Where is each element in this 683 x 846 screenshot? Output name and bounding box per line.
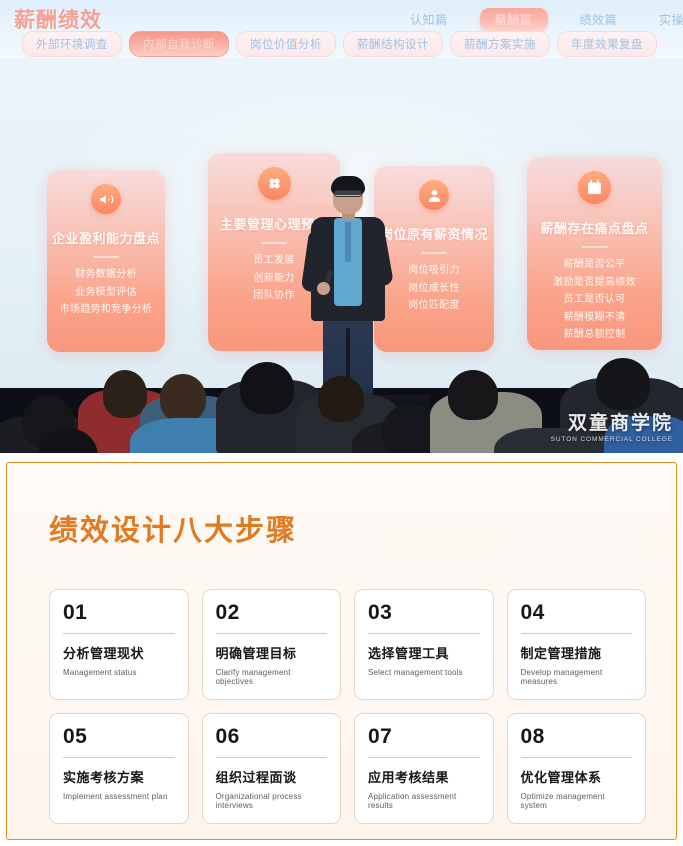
step-number: 02	[216, 602, 328, 623]
divider	[93, 256, 119, 258]
list-item: 薪酬模糊不清	[564, 311, 626, 326]
step-number: 04	[521, 602, 633, 623]
step-title-en: Develop management measures	[521, 668, 633, 686]
divider	[521, 633, 633, 634]
divider	[521, 757, 633, 758]
step-tab-external-survey[interactable]: 外部环境调查	[22, 31, 122, 57]
step-title-cn: 组织过程面谈	[216, 767, 328, 786]
steps-grid: 01 分析管理现状 Management status 02 明确管理目标 Cl…	[49, 589, 646, 824]
step-card-07[interactable]: 07 应用考核结果 Application assessment results	[354, 713, 494, 824]
list-item: 财务数据分析	[75, 268, 137, 283]
step-title-en: Implement assessment plan	[63, 792, 175, 801]
chapter-tabs: 认知篇 薪酬篇 绩效篇 实操篇	[400, 9, 683, 29]
step-number: 06	[216, 726, 328, 747]
list-item: 岗位成长性	[408, 282, 460, 297]
speaker-hand	[317, 282, 330, 295]
panel-title: 绩效设计八大步骤	[49, 507, 646, 549]
step-title-en: Application assessment results	[368, 792, 480, 810]
step-number: 07	[368, 726, 480, 747]
step-title-en: Clarify management objectives	[216, 668, 328, 686]
step-title-cn: 制定管理措施	[521, 643, 633, 662]
step-card-02[interactable]: 02 明确管理目标 Clarify management objectives	[202, 589, 342, 700]
step-tab-annual-review[interactable]: 年度效果复盘	[557, 31, 657, 57]
watermark-en: SUTON COMMERCIAL COLLEGE	[551, 436, 673, 443]
step-tabs: 外部环境调查 内部自我诊断 岗位价值分析 薪酬结构设计 薪酬方案实施 年度效果复…	[0, 31, 683, 57]
divider	[368, 757, 480, 758]
slide-card-list: 员工发展 创新能力 团队协作	[253, 254, 294, 304]
step-title-en: Management status	[63, 668, 175, 677]
slide-card-3: 岗位原有薪资情况 岗位吸引力 岗位成长性 岗位匹配度	[374, 166, 494, 352]
step-card-03[interactable]: 03 选择管理工具 Select management tools	[354, 589, 494, 700]
step-number: 03	[368, 602, 480, 623]
divider	[216, 757, 328, 758]
step-number: 08	[521, 726, 633, 747]
list-item: 激励是否提高绩效	[553, 276, 635, 291]
step-number: 01	[63, 602, 175, 623]
list-item: 岗位吸引力	[408, 264, 460, 279]
chapter-tab-3[interactable]: 实操篇	[649, 8, 683, 31]
list-item: 岗位匹配度	[408, 299, 460, 314]
list-item: 员工发展	[253, 254, 294, 269]
step-title-en: Select management tools	[368, 668, 480, 677]
step-title-cn: 选择管理工具	[368, 643, 480, 662]
step-card-06[interactable]: 06 组织过程面谈 Organizational process intervi…	[202, 713, 342, 824]
clover-icon	[258, 167, 291, 200]
slide-card-list: 岗位吸引力 岗位成长性 岗位匹配度	[408, 264, 460, 314]
calendar-icon	[578, 171, 611, 204]
list-item: 创新能力	[253, 272, 294, 287]
chapter-tab-1[interactable]: 薪酬篇	[480, 8, 548, 31]
slide-card-title: 薪酬存在痛点盘点	[540, 218, 648, 237]
speaker-glasses	[334, 190, 362, 197]
step-card-04[interactable]: 04 制定管理措施 Develop management measures	[507, 589, 647, 700]
step-card-08[interactable]: 08 优化管理体系 Optimize management system	[507, 713, 647, 824]
slide-card-title: 企业盈利能力盘点	[52, 228, 160, 247]
divider	[63, 633, 175, 634]
step-card-05[interactable]: 05 实施考核方案 Implement assessment plan	[49, 713, 189, 824]
step-title-cn: 实施考核方案	[63, 767, 175, 786]
step-tab-job-value[interactable]: 岗位价值分析	[236, 31, 336, 57]
watermark-cn: 双童商学院	[551, 408, 673, 435]
slide-card-title: 岗位原有薪资情况	[380, 224, 488, 243]
step-tab-pay-structure[interactable]: 薪酬结构设计	[343, 31, 443, 57]
step-title-cn: 分析管理现状	[63, 643, 175, 662]
divider	[216, 633, 328, 634]
chapter-tab-2[interactable]: 绩效篇	[570, 8, 628, 31]
divider	[421, 252, 447, 254]
speaker-tie	[345, 222, 351, 262]
page-title: 薪酬绩效	[14, 4, 102, 34]
watermark: 双童商学院 SUTON COMMERCIAL COLLEGE	[551, 408, 673, 443]
step-tab-pay-implementation[interactable]: 薪酬方案实施	[450, 31, 550, 57]
step-number: 05	[63, 726, 175, 747]
slide-card-list: 财务数据分析 业务模型评估 市场趋势和竞争分析	[60, 268, 153, 318]
step-title-en: Optimize management system	[521, 792, 633, 810]
list-item: 员工是否认可	[564, 293, 626, 308]
step-title-en: Organizational process interviews	[216, 792, 328, 810]
course-header: 薪酬绩效 认知篇 薪酬篇 绩效篇 实操篇 外部环境调查 内部自我诊断 岗位价值分…	[0, 0, 683, 58]
step-title-cn: 应用考核结果	[368, 767, 480, 786]
slide-card-1: 企业盈利能力盘点 财务数据分析 业务模型评估 市场趋势和竞争分析	[47, 170, 165, 352]
megaphone-icon	[91, 184, 121, 214]
slide-card-4: 薪酬存在痛点盘点 薪酬是否公平 激励是否提高绩效 员工是否认可 薪酬模糊不清 薪…	[527, 157, 662, 350]
step-card-01[interactable]: 01 分析管理现状 Management status	[49, 589, 189, 700]
divider	[368, 633, 480, 634]
step-title-cn: 优化管理体系	[521, 767, 633, 786]
list-item: 业务模型评估	[75, 286, 137, 301]
step-title-cn: 明确管理目标	[216, 643, 328, 662]
divider	[63, 757, 175, 758]
list-item: 团队协作	[253, 289, 294, 304]
performance-steps-panel: 绩效设计八大步骤 01 分析管理现状 Management status 02 …	[6, 462, 677, 840]
person-icon	[419, 180, 449, 210]
chapter-tab-0[interactable]: 认知篇	[400, 8, 458, 31]
list-item: 市场趋势和竞争分析	[60, 303, 153, 318]
lecture-video[interactable]: 企业盈利能力盘点 财务数据分析 业务模型评估 市场趋势和竞争分析 主要管理心理预…	[0, 58, 683, 453]
list-item: 薪酬总额控制	[564, 328, 626, 343]
step-tab-internal-diagnosis[interactable]: 内部自我诊断	[129, 31, 229, 57]
slide-card-list: 薪酬是否公平 激励是否提高绩效 员工是否认可 薪酬模糊不清 薪酬总额控制	[553, 258, 635, 343]
divider	[582, 246, 608, 248]
list-item: 薪酬是否公平	[564, 258, 626, 273]
divider	[261, 242, 287, 244]
